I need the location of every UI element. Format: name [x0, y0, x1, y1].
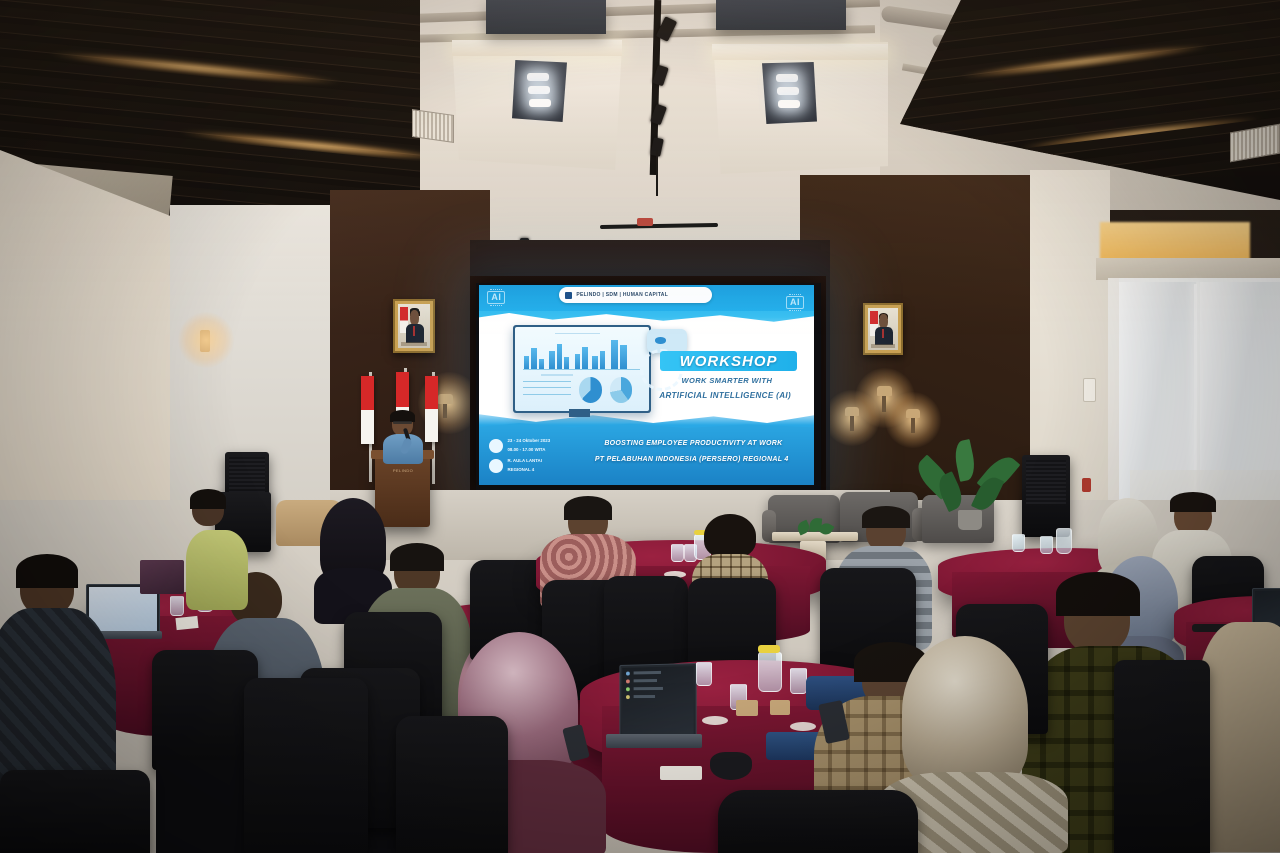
chair	[244, 678, 368, 853]
sconce-glow	[178, 312, 234, 368]
pa-speaker-right	[1022, 455, 1070, 537]
slide-subtitle-line1: WORK SMARTER WITH	[647, 376, 808, 386]
air-conditioning-unit	[412, 109, 454, 143]
audience-member	[186, 498, 248, 604]
cove-soffit	[1096, 258, 1280, 280]
name-card	[175, 616, 198, 630]
monitor-stand	[569, 409, 589, 417]
wall-sconce	[906, 409, 920, 418]
recessed-light	[528, 86, 550, 94]
recessed-light	[527, 73, 549, 81]
truss-pendant-cable	[656, 150, 658, 196]
water-pitcher	[758, 652, 782, 692]
water-pitcher	[1056, 528, 1072, 554]
drinking-glass	[696, 662, 712, 686]
light-switch[interactable]	[1083, 378, 1096, 402]
wooden-block-holder	[770, 700, 790, 715]
wall-sconce-stem	[882, 396, 886, 412]
slide-subtitle-line2: ARTIFICIAL INTELLIGENCE (AI)	[640, 391, 811, 402]
chair	[718, 790, 918, 853]
slide-venue-line2: REGIONAL 4	[507, 467, 534, 473]
wall-sconce-stem	[911, 418, 915, 433]
brand-mark-icon	[565, 292, 572, 299]
laptop-screen	[619, 663, 696, 739]
ceiling-coffer-upper-right	[716, 0, 846, 30]
ai-chip-icon-left: AI	[487, 291, 505, 304]
wall-sconce	[438, 394, 453, 404]
projection-screen: PELINDO | SDM | HUMAN CAPITAL AI AI	[479, 285, 814, 485]
slide-date-line1: 23 - 24 Oktober 2023	[507, 438, 550, 444]
drinking-glass	[1040, 536, 1053, 554]
dashboard-monitor-graphic	[513, 325, 651, 413]
cove-light-right	[1100, 222, 1250, 262]
slide-footer-line2: PT PELABUHAN INDONESIA (PERSERO) REGIONA…	[573, 455, 811, 464]
truss-fixture	[637, 218, 653, 226]
official-portrait-right	[863, 303, 903, 355]
podium-logo: PELINDO	[386, 468, 420, 473]
tissue-stack	[660, 766, 702, 780]
chair	[1114, 660, 1210, 853]
hijab	[902, 636, 1028, 788]
wall-sconce	[845, 407, 859, 416]
plant-pot	[958, 510, 982, 530]
conference-room-photo: PELINDO | SDM | HUMAN CAPITAL AI AI	[0, 0, 1280, 853]
chair	[396, 716, 508, 853]
indonesia-flag	[361, 376, 374, 444]
chair-skirt	[156, 760, 256, 853]
recessed-light	[778, 100, 800, 108]
wall-sconce-stem	[850, 416, 854, 431]
slide-footer-line1: BOOSTING EMPLOYEE PRODUCTIVITY AT WORK	[580, 439, 808, 448]
ceiling-coffer-upper-left	[486, 0, 606, 34]
calendar-icon	[489, 439, 503, 453]
slide-venue-line1: R. AULA LANTAI	[507, 458, 541, 464]
slide-date-line2: 08.00 - 17.00 WITA	[507, 447, 545, 453]
slide-footer-band	[479, 423, 814, 485]
drinking-glass	[671, 544, 684, 562]
table-plant	[796, 517, 830, 535]
saucer	[702, 716, 728, 725]
coffer-light-bar-left	[452, 40, 622, 56]
drinking-glass	[1012, 534, 1025, 552]
wooden-block-holder	[736, 700, 758, 716]
recessed-light	[776, 74, 798, 82]
official-portrait-left	[393, 299, 435, 353]
chair	[0, 770, 150, 853]
pie-chart-graphic	[579, 377, 602, 402]
slide-logo-strip: PELINDO | SDM | HUMAN CAPITAL	[559, 287, 712, 303]
fire-alarm-icon	[1082, 478, 1091, 492]
face-mask	[710, 752, 752, 780]
presenter-glasses-icon	[393, 421, 412, 424]
recessed-light	[777, 87, 799, 95]
slide-top-logo-text: PELINDO | SDM | HUMAN CAPITAL	[576, 292, 668, 298]
wall-sconce-stem	[443, 404, 447, 418]
recessed-light	[529, 99, 551, 107]
laptop-keyboard	[606, 734, 702, 748]
ai-chip-icon-right: AI	[786, 296, 804, 309]
pie-chart-graphic	[610, 377, 633, 402]
potted-palm	[930, 440, 1006, 530]
wall-sconce	[877, 386, 892, 396]
location-pin-icon	[489, 459, 503, 473]
presenter-at-podium	[376, 412, 432, 462]
chair	[152, 650, 258, 770]
slide-headline: WORKSHOP	[660, 351, 797, 371]
coffer-light-bar-right	[712, 44, 888, 60]
pitcher-lid	[758, 645, 780, 653]
